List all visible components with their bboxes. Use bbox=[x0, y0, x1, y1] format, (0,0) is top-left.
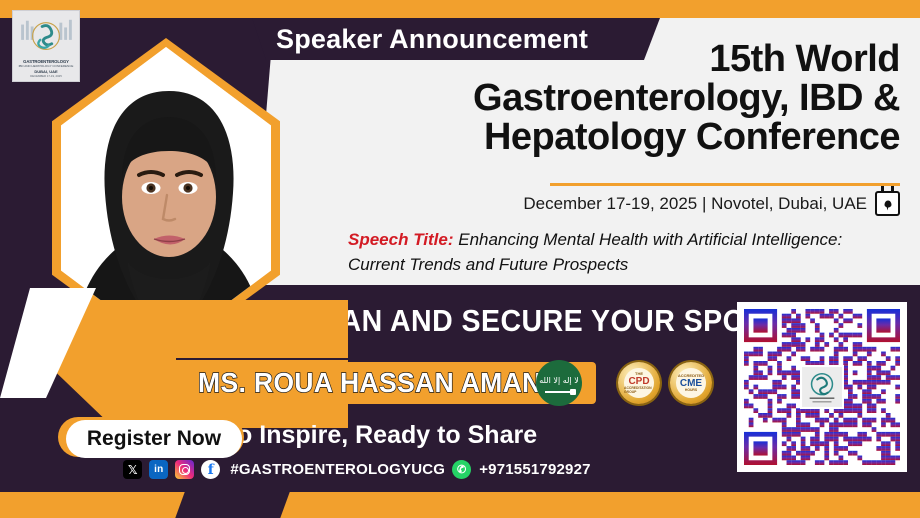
speaker-name-band: MS. ROUA HASSAN AMAN bbox=[176, 362, 596, 404]
name-underline bbox=[176, 358, 521, 360]
logo-line-2: IBD AND HEPATOLOGY CONFERENCE bbox=[19, 64, 74, 68]
flag-sword bbox=[545, 391, 573, 393]
scan-headline: SCAN AND SECURE YOUR SPOT!! bbox=[300, 303, 783, 339]
date-venue-line: December 17-19, 2025 | Novotel, Dubai, U… bbox=[300, 191, 900, 216]
instagram-icon[interactable] bbox=[175, 460, 194, 479]
facebook-icon[interactable]: f bbox=[201, 460, 220, 479]
register-now-button[interactable]: Register Now bbox=[66, 420, 242, 458]
top-accent-bar bbox=[0, 0, 920, 18]
cpd-badge-bottom: ACCREDITATION GROUP bbox=[624, 387, 654, 394]
speaker-announcement-poster: Speaker Announcement 15th World Gastroen… bbox=[0, 0, 920, 518]
registration-qr-code[interactable] bbox=[737, 302, 907, 472]
conference-title: 15th World Gastroenterology, IBD & Hepat… bbox=[300, 40, 900, 156]
cpd-badge: THE CPD ACCREDITATION GROUP bbox=[618, 362, 660, 404]
cme-badge: ACCREDITED CME HOURS bbox=[670, 362, 712, 404]
speech-title-label: Speech Title: bbox=[348, 230, 454, 249]
speaker-name: MS. ROUA HASSAN AMAN bbox=[198, 367, 542, 399]
date-venue-text: December 17-19, 2025 | Novotel, Dubai, U… bbox=[523, 194, 867, 214]
saudi-arabia-flag-icon: لا إله إلا الله bbox=[536, 360, 582, 406]
phone-number: +971551792927 bbox=[479, 461, 590, 478]
bottom-accent-bar bbox=[0, 492, 920, 518]
x-icon[interactable]: 𝕏 bbox=[123, 460, 142, 479]
logo-line-4: DECEMBER 17-19, 2025 bbox=[30, 74, 62, 78]
speech-title-block: Speech Title: Enhancing Mental Health wi… bbox=[348, 228, 848, 277]
linkedin-icon[interactable]: in bbox=[149, 460, 168, 479]
flag-shahada-text: لا إله إلا الله bbox=[539, 377, 579, 385]
qr-center-logo bbox=[800, 365, 844, 409]
title-line-2: Gastroenterology, IBD & bbox=[300, 79, 900, 118]
bottom-bar-notch bbox=[175, 492, 289, 518]
title-line-3: Hepatology Conference bbox=[300, 118, 900, 157]
conference-logo: GASTROENTEROLOGY IBD AND HEPATOLOGY CONF… bbox=[12, 10, 80, 82]
title-divider bbox=[550, 183, 900, 186]
title-line-1: 15th World bbox=[300, 40, 900, 79]
whatsapp-icon[interactable]: ✆ bbox=[452, 460, 471, 479]
hashtag-text: #GASTROENTEROLOGYUCG bbox=[230, 461, 445, 478]
calendar-location-icon bbox=[875, 191, 900, 216]
cme-badge-bottom: HOURS bbox=[685, 389, 697, 392]
